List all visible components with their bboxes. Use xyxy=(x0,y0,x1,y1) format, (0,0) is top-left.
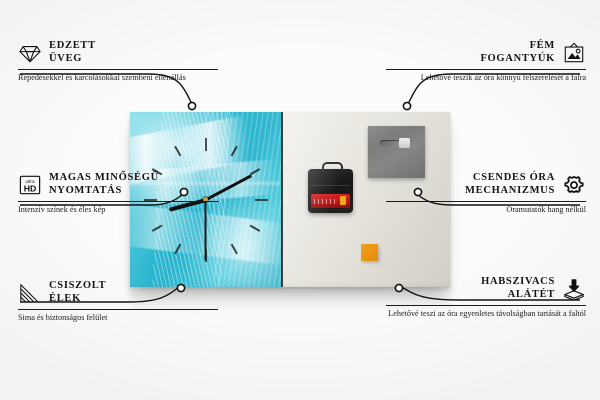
feature-title-line2: ALÁTÉT xyxy=(481,289,555,302)
feature-callout-foam: HABSZIVACS ALÁTÉT Lehetővé teszi az óra … xyxy=(386,276,586,320)
feature-title-line2: MECHANIZMUS xyxy=(465,185,555,198)
feature-title-line1: EDZETT xyxy=(49,40,96,53)
feature-callout-glass: EDZETT ÜVEG Repedésekkel és karcolásokka… xyxy=(18,40,218,84)
divider xyxy=(18,69,218,70)
picture-hanger-icon xyxy=(562,42,586,64)
feature-description: Lehetővé teszi az óra egyenletes távolsá… xyxy=(388,309,586,320)
divider xyxy=(386,305,586,306)
ultra-hd-icon: ultra HD xyxy=(18,174,42,196)
ultra-hd-large-text: HD xyxy=(24,183,37,193)
feature-title-line2: NYOMTATÁS xyxy=(49,185,159,198)
connector-dot-glass xyxy=(188,102,195,109)
feature-title-line1: CSISZOLT xyxy=(49,280,106,293)
divider xyxy=(18,309,218,310)
feature-title-line1: CSENDES ÓRA xyxy=(465,172,555,185)
connector-dot-handles xyxy=(403,102,410,109)
beveled-edge-icon xyxy=(18,282,42,304)
feature-title-line2: FOGANTYÚK xyxy=(480,53,555,66)
feature-title-line2: ÜVEG xyxy=(49,53,96,66)
feature-callout-mechanism: CSENDES ÓRA MECHANIZMUS Óramutatók hang … xyxy=(386,172,586,216)
feature-description: Repedésekkel és karcolásokkal szembeni e… xyxy=(18,73,218,84)
feature-description: Intenzív színek és éles kép xyxy=(18,205,218,216)
infographic-stage: EDZETT ÜVEG Repedésekkel és karcolásokka… xyxy=(0,0,600,400)
feature-callout-edges: CSISZOLT ÉLEK Sima és biztonságos felüle… xyxy=(18,280,218,324)
feature-description: Óramutatók hang nélkül xyxy=(506,205,586,216)
foam-pad-icon xyxy=(562,278,586,300)
feature-callout-handles: FÉM FOGANTYÚK Lehetővé teszik az óra kön… xyxy=(386,40,586,84)
diamond-icon xyxy=(18,42,42,64)
feature-description: Sima és biztonságos felület xyxy=(18,313,218,324)
feature-title-line1: FÉM xyxy=(480,40,555,53)
gear-icon xyxy=(562,174,586,196)
divider xyxy=(18,201,218,202)
feature-title-line1: HABSZIVACS xyxy=(481,276,555,289)
feature-title-line2: ÉLEK xyxy=(49,293,106,306)
feature-description: Lehetővé teszik az óra könnyű felszerelé… xyxy=(421,73,586,84)
feature-title-line1: MAGAS MINŐSÉGŰ xyxy=(49,172,159,185)
divider xyxy=(386,69,586,70)
divider xyxy=(386,201,586,202)
feature-callout-print: ultra HD MAGAS MINŐSÉGŰ NYOMTATÁS Intenz… xyxy=(18,172,218,216)
